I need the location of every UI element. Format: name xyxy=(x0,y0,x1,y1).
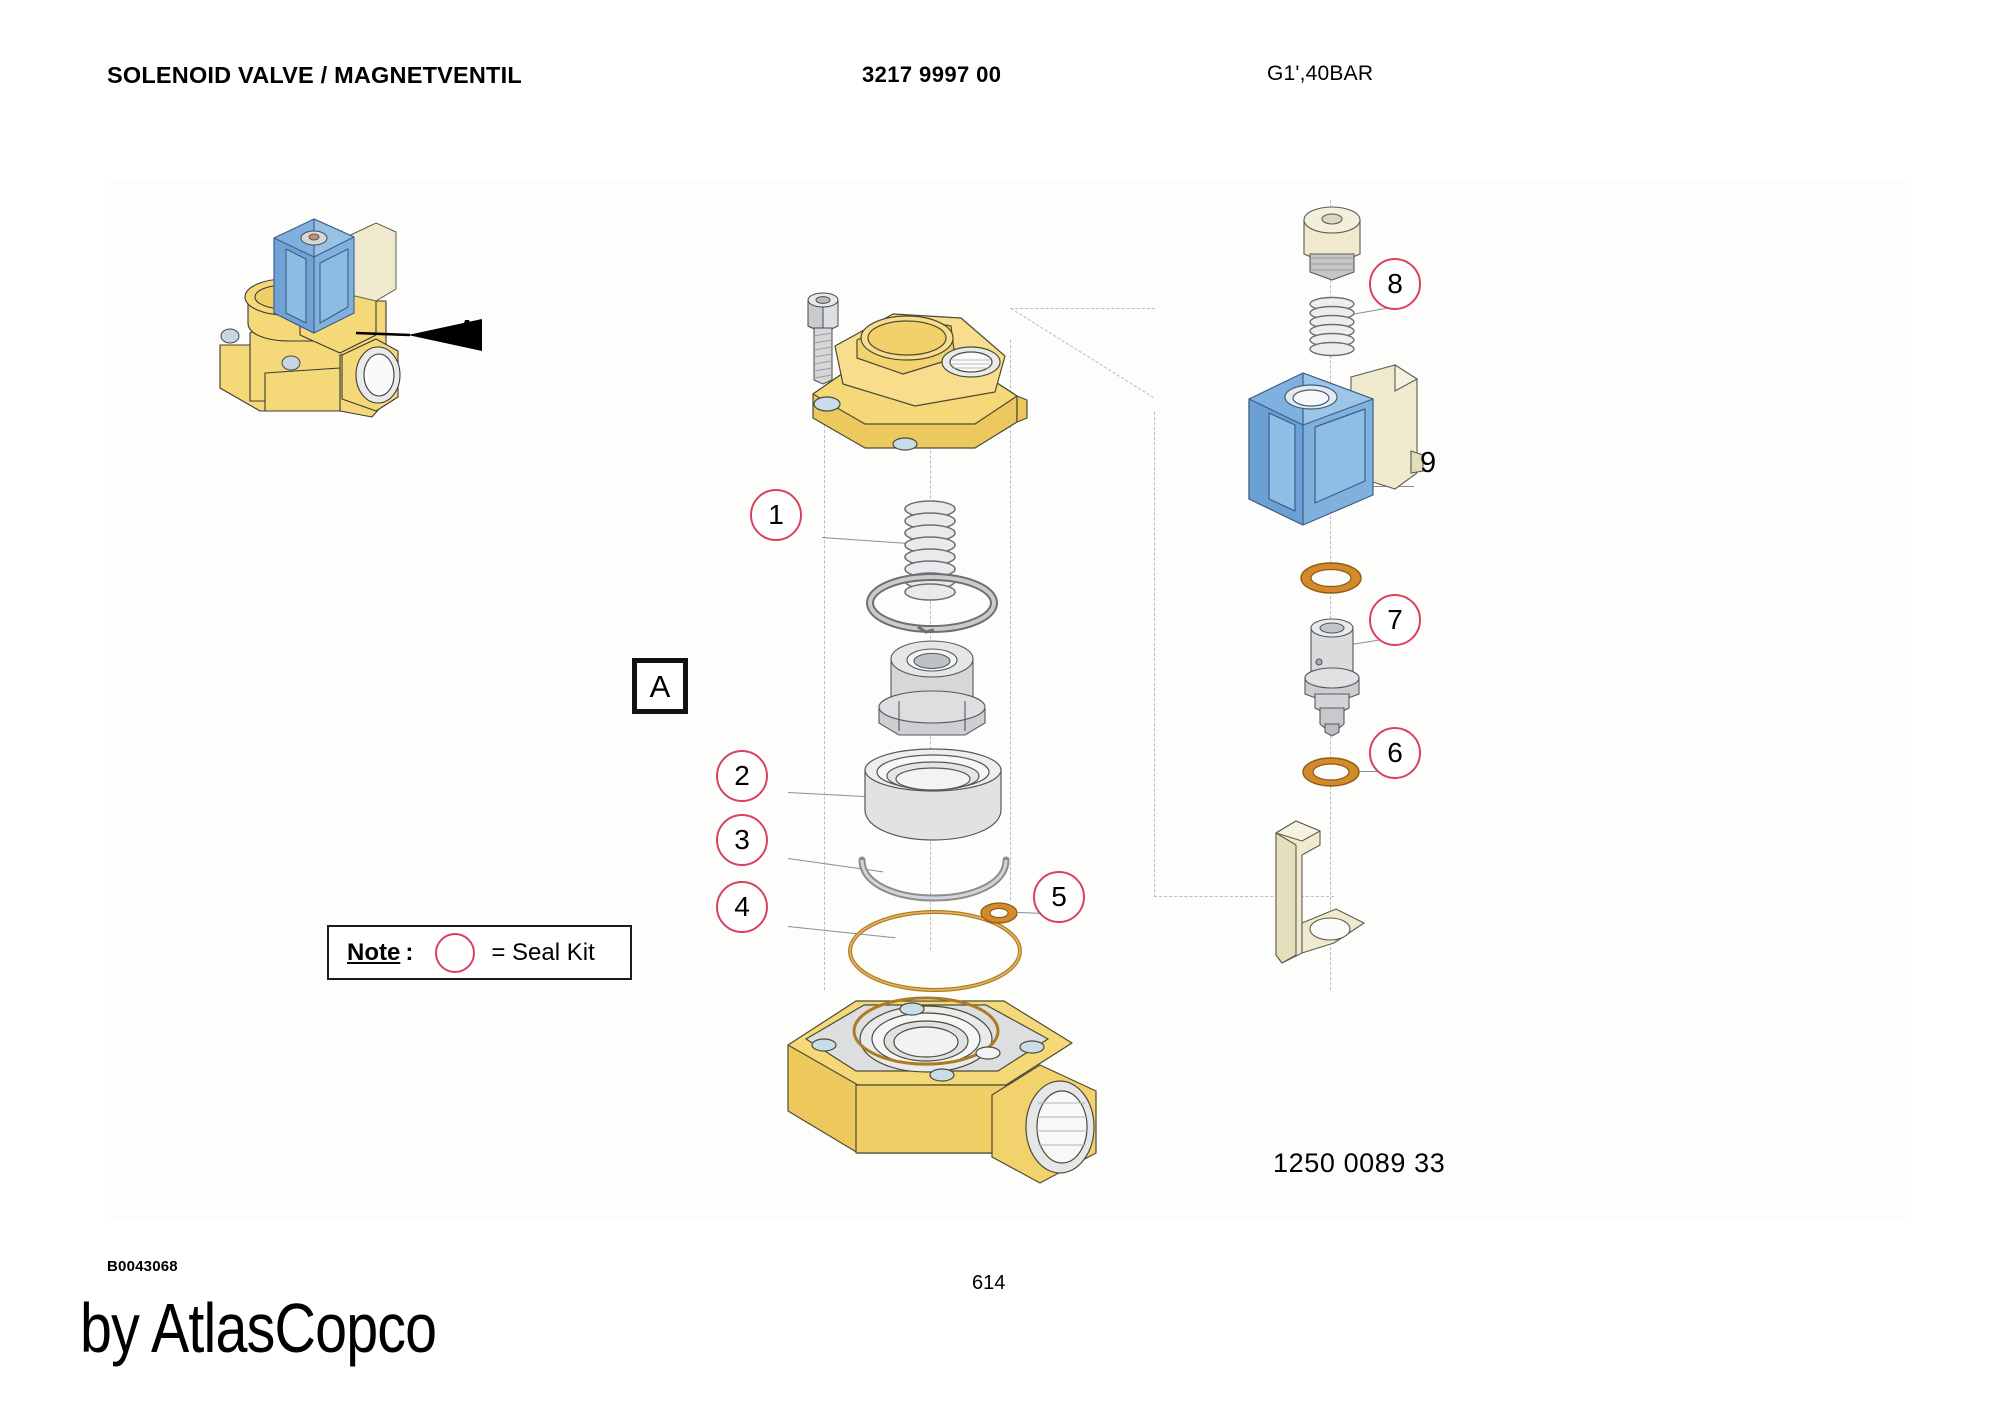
part-number: 3217 9997 00 xyxy=(862,62,1001,88)
callout-5: 5 xyxy=(1033,871,1085,923)
coil-spring-part xyxy=(1302,296,1362,358)
upper-oring-part xyxy=(1298,560,1364,596)
brand-logo-text: by AtlasCopco xyxy=(80,1288,436,1368)
small-oring-part xyxy=(978,900,1020,926)
note-colon: : xyxy=(405,939,413,967)
page-number: 614 xyxy=(972,1272,1005,1295)
callout-3: 3 xyxy=(716,814,768,866)
plunger-nut-part xyxy=(869,635,995,743)
snap-ring-part xyxy=(850,840,1018,902)
detail-callout-letter-a: A xyxy=(455,315,479,351)
note-legend: Note : = Seal Kit xyxy=(327,925,632,980)
seal-kit-circle-icon xyxy=(435,933,475,973)
drawing-number: 1250 0089 33 xyxy=(1273,1148,1445,1179)
coil-nut-cap-part xyxy=(1292,200,1372,284)
callout-1: 1 xyxy=(750,489,802,541)
lower-oring-part xyxy=(1300,755,1362,789)
valve-bonnet-part xyxy=(795,296,1055,476)
document-code: B0043068 xyxy=(107,1258,178,1275)
phantom-right-edge xyxy=(1154,412,1155,897)
centerline-left xyxy=(824,400,825,990)
sleeve-part xyxy=(857,748,1009,844)
retaining-ring-part xyxy=(866,572,998,634)
note-equals-text: = Seal Kit xyxy=(491,939,594,967)
armature-tube-part xyxy=(1297,612,1367,740)
callout-2: 2 xyxy=(716,750,768,802)
callout-8: 8 xyxy=(1369,258,1421,310)
mounting-bracket-part xyxy=(1258,805,1378,965)
solenoid-coil-part xyxy=(1245,355,1425,535)
page-title: SOLENOID VALVE / MAGNETVENTIL xyxy=(107,62,522,89)
spec-label: G1',40BAR xyxy=(1267,62,1373,86)
callout-6: 6 xyxy=(1369,727,1421,779)
drawing-page: SOLENOID VALVE / MAGNETVENTIL 3217 9997 … xyxy=(0,0,2000,1414)
valve-body-part xyxy=(760,935,1110,1200)
note-label: Note xyxy=(347,939,400,967)
callout-4: 4 xyxy=(716,881,768,933)
callout-9: 9 xyxy=(1420,449,1436,478)
section-marker-a: A xyxy=(632,658,688,714)
callout-7: 7 xyxy=(1369,594,1421,646)
